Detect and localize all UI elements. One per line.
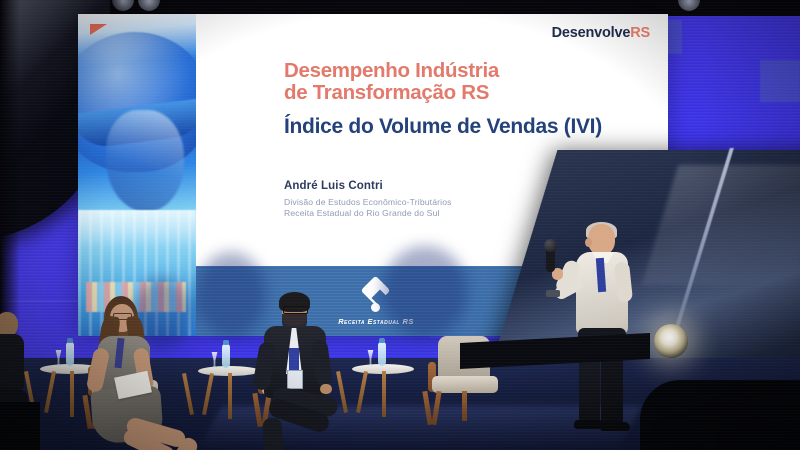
water-bottle	[378, 342, 386, 366]
hand	[320, 384, 332, 394]
brand-suffix: RS	[630, 25, 650, 41]
badge	[287, 370, 303, 389]
microphone	[546, 246, 555, 272]
ear	[585, 238, 592, 247]
cast-shadow	[382, 246, 468, 338]
presentation-clicker	[546, 290, 560, 297]
brand-name: Desenvolve	[552, 25, 631, 41]
water-bottle	[66, 342, 74, 366]
shoe	[600, 422, 630, 431]
stage-spotlight	[654, 324, 688, 358]
slide-title-block: Desempenho Indústria de Transformação RS…	[284, 60, 664, 138]
foreground-shadow	[0, 402, 40, 450]
slide-title-line-1: Desempenho Indústria	[284, 60, 664, 82]
coral-accent-top-left	[90, 24, 107, 35]
slide-subtitle: Índice do Volume de Vendas (IVI)	[284, 115, 664, 138]
eyeglasses	[283, 306, 308, 314]
slide-title-line-2: de Transformação RS	[284, 82, 664, 104]
cast-shadow	[196, 252, 266, 338]
desenvolve-rs-logo: DesenvolveRS	[552, 25, 650, 41]
water-bottle	[222, 344, 230, 368]
led-block	[760, 60, 800, 102]
worker-face	[106, 110, 184, 212]
conference-stage-scene: DesenvolveRS Desempenho Indústria de Tra…	[0, 0, 800, 450]
